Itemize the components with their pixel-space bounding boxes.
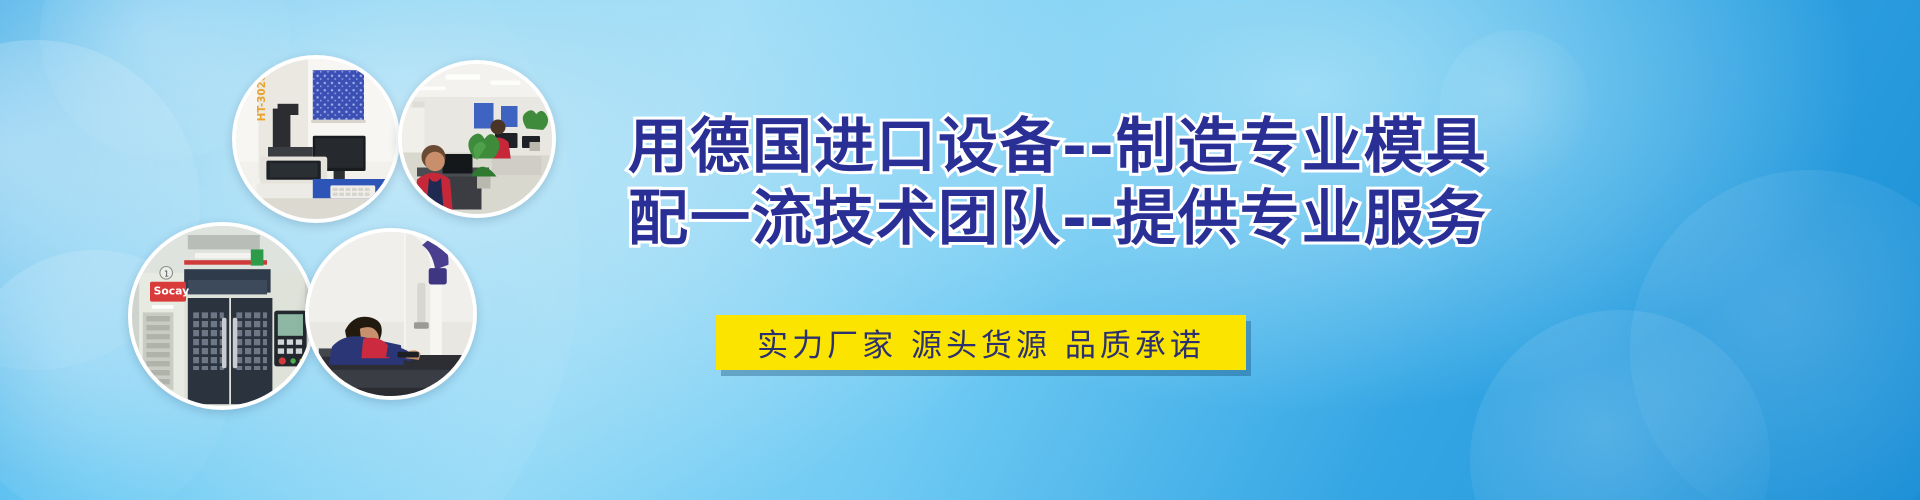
- headline-line-2: 配一流技术团队--提供专业服务: [628, 170, 1488, 257]
- headline-block: 用德国进口设备--制造专业模具 配一流技术团队--提供专业服务 实力厂家 源头货…: [600, 0, 1920, 500]
- promo-banner: HT-3020: [0, 0, 1920, 500]
- photo-office-staff: [398, 60, 556, 218]
- photo-cmm-machine: HT-3020: [232, 55, 400, 223]
- tagline-text: 实力厂家 源头货源 品质承诺: [757, 320, 1205, 365]
- photo-caption-ht3020: HT-3020: [256, 74, 268, 122]
- svg-text:1: 1: [164, 268, 169, 278]
- photo-collage: HT-3020: [0, 0, 620, 500]
- photo-cnc-machine: Socay 1: [128, 222, 316, 410]
- photo-caption-socay: Socay: [154, 284, 190, 297]
- photo-measuring-arm: [305, 228, 477, 400]
- tagline-strip: 实力厂家 源头货源 品质承诺: [716, 315, 1246, 370]
